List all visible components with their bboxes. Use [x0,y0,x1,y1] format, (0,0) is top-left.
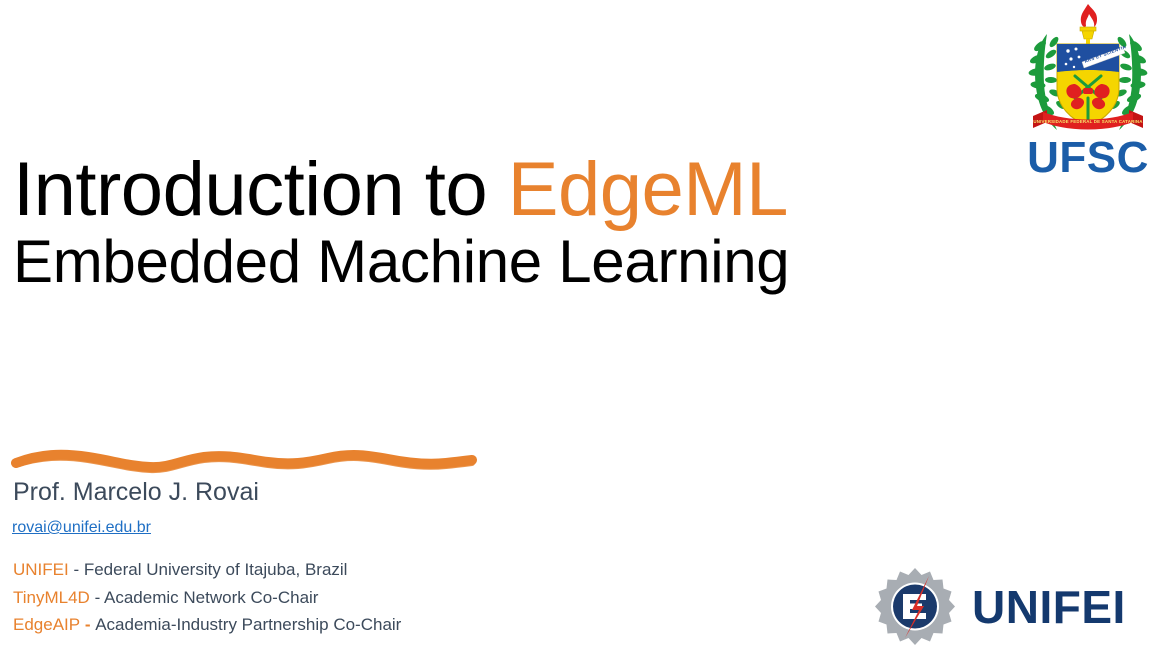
unifei-gear-icon: UNIFEI [872,566,1164,652]
affiliation-separator-tinyml4d: - [90,588,104,607]
affiliation-org-edgeaip: EdgeAIP [13,615,80,634]
title-block: Introduction to EdgeML Embedded Machine … [13,148,993,296]
presenter-email-link[interactable]: rovai@unifei.edu.br [12,518,151,538]
ufsc-wordmark: UFSC [1027,133,1149,178]
affiliation-org-tinyml4d: TinyML4D [13,588,90,607]
affiliation-list: UNIFEI - Federal University of Itajuba, … [13,556,633,639]
slide-subtitle: Embedded Machine Learning [13,228,993,296]
affiliation-org-unifei: UNIFEI [13,560,69,579]
affiliation-desc-edgeaip: Academia-Industry Partnership Co-Chair [95,615,401,634]
ufsc-crest-icon: ARS ET SCIENTIA UNIVERSIDADE FEDERAL DE … [1013,2,1163,178]
slide-title-accent: EdgeML [508,147,788,232]
unifei-wordmark: UNIFEI [972,581,1126,633]
affiliation-desc-tinyml4d: Academic Network Co-Chair [104,588,318,607]
slide-title-primary: Introduction to [13,147,508,232]
affiliation-desc-unifei: Federal University of Itajuba, Brazil [84,560,348,579]
ufsc-logo: ARS ET SCIENTIA UNIVERSIDADE FEDERAL DE … [1013,2,1163,178]
affiliation-row-tinyml4d: TinyML4D - Academic Network Co-Chair [13,584,633,612]
affiliation-separator-unifei: - [69,560,84,579]
affiliation-row-edgeaip: EdgeAIP - Academia-Industry Partnership … [13,611,633,639]
orange-squiggle-divider [10,446,480,476]
title-slide: Introduction to EdgeML Embedded Machine … [0,0,1165,653]
slide-title-line-1: Introduction to EdgeML [13,148,993,232]
unifei-logo: UNIFEI [872,566,1164,652]
affiliation-separator-edgeaip: - [80,615,95,634]
presenter-name: Prof. Marcelo J. Rovai [13,477,259,507]
affiliation-row-unifei: UNIFEI - Federal University of Itajuba, … [13,556,633,584]
svg-text:UNIVERSIDADE FEDERAL DE SANTA: UNIVERSIDADE FEDERAL DE SANTA CATARINA [1033,119,1143,124]
squiggle-icon [10,446,480,476]
